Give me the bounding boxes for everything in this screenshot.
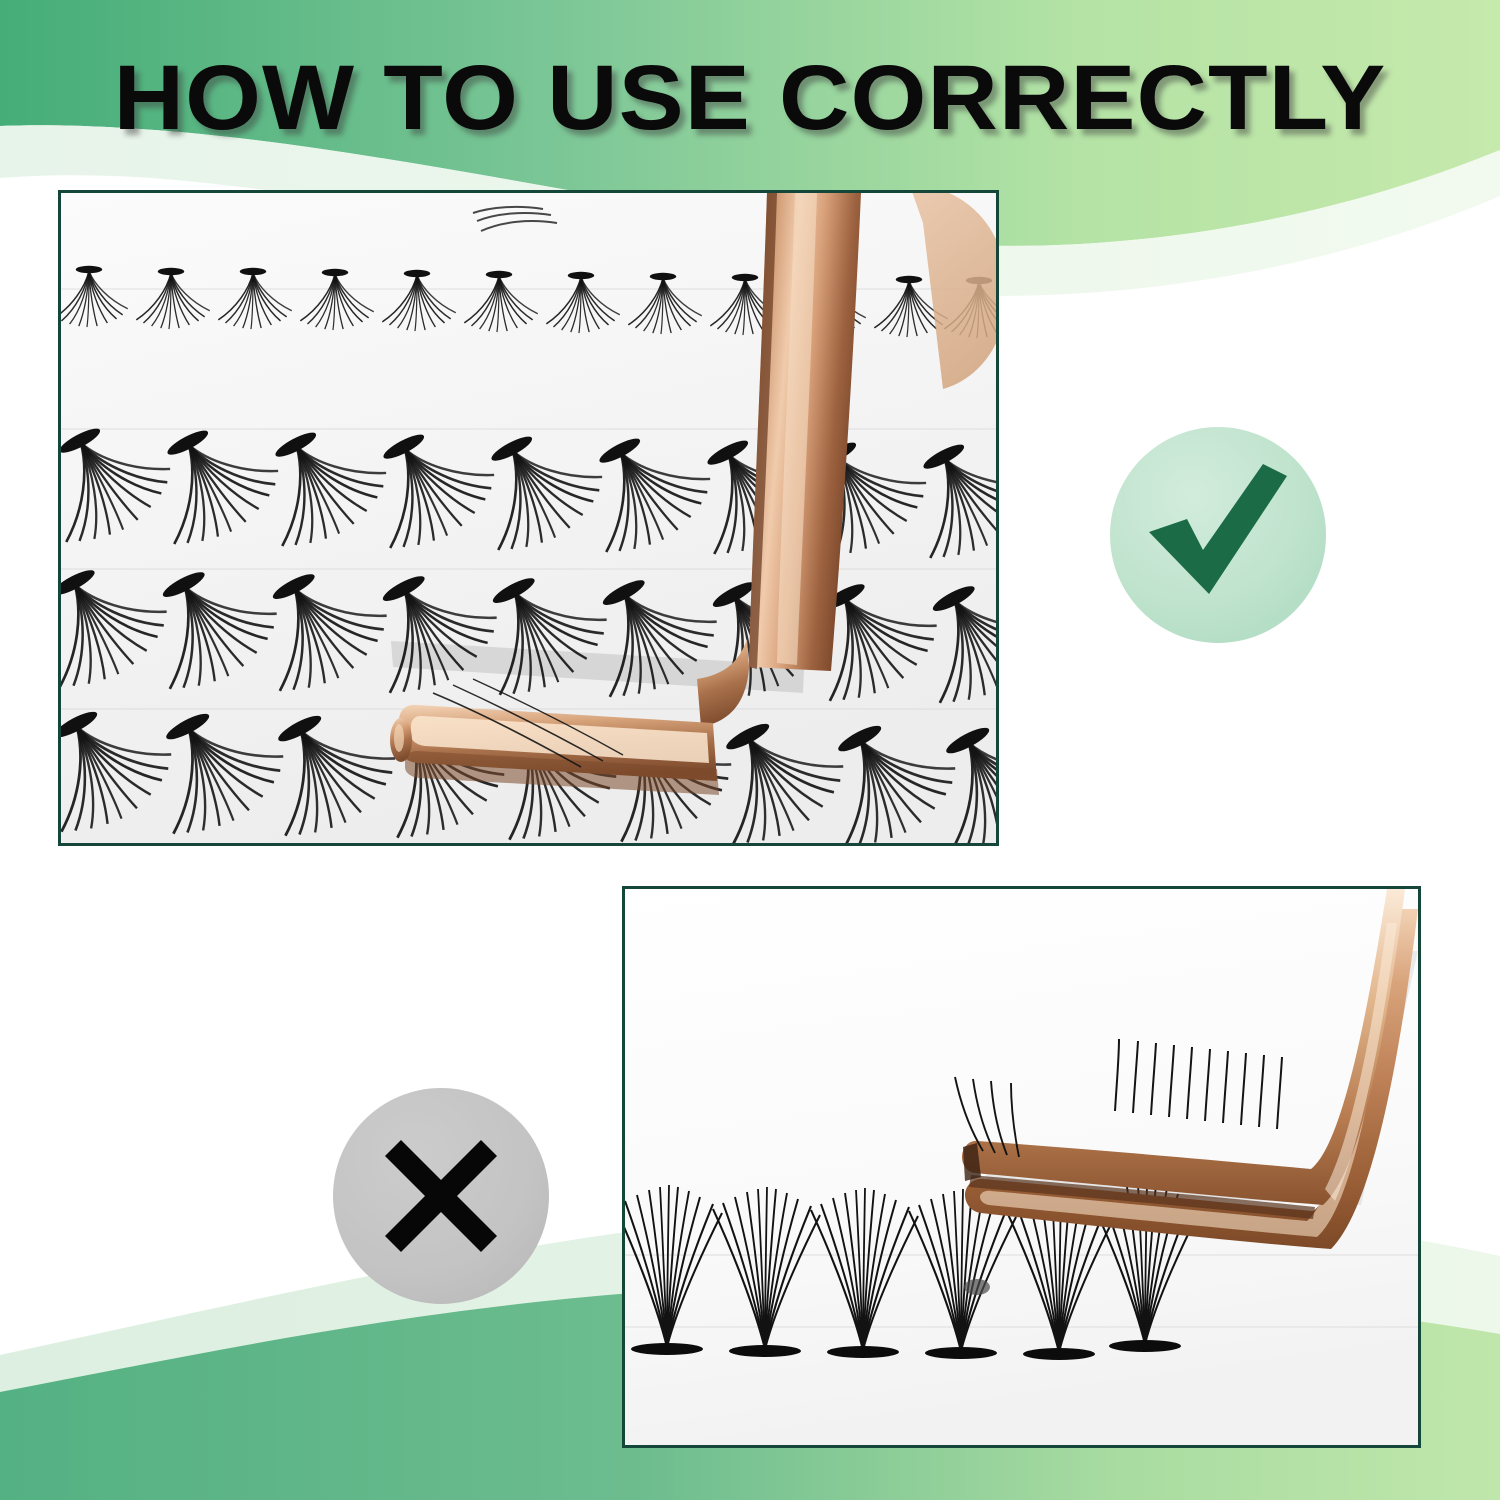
page-title: HOW TO USE CORRECTLY [0,52,1500,144]
debris-fleck [964,1279,990,1295]
correct-usage-photo [58,190,999,846]
incorrect-usage-illustration [625,889,1418,1445]
check-icon [1143,460,1293,610]
cross-icon [377,1132,505,1260]
cross-badge [333,1088,549,1304]
correct-usage-illustration [61,193,996,843]
infographic-page: HOW TO USE CORRECTLY [0,0,1500,1500]
incorrect-usage-photo [622,886,1421,1448]
check-badge [1110,427,1326,643]
